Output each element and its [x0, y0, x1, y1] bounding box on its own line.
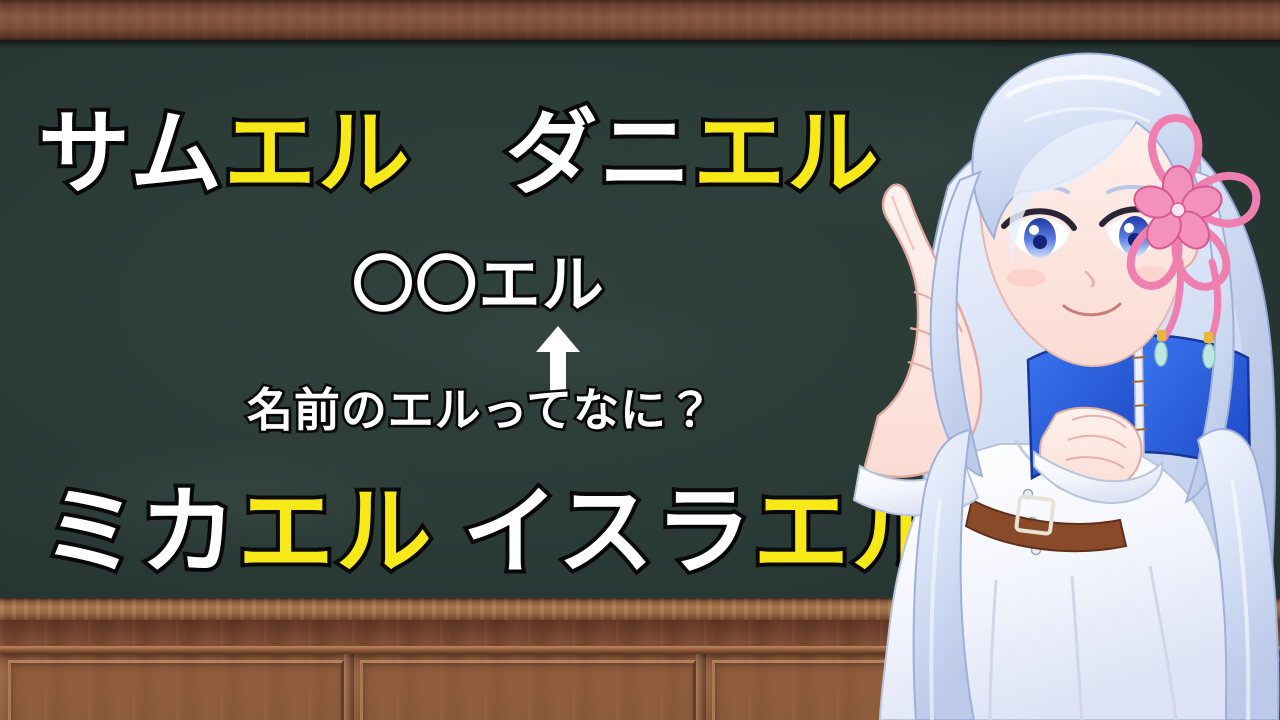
- board-line-middle: 〇〇エル: [352, 255, 605, 317]
- board-text-mika: ミカ: [42, 479, 238, 586]
- wall-stile: [1048, 654, 1058, 720]
- board-text-question: 名前のエルってなに？: [247, 384, 714, 436]
- wall-stile: [696, 654, 706, 720]
- wall-panel: [1064, 660, 1280, 720]
- board-text-eru-4: エル: [753, 479, 949, 586]
- board-line-top: サムエル ダニエル: [38, 108, 881, 200]
- board-text-isura: イスラ: [462, 479, 753, 586]
- board-text-gap-2: [434, 479, 463, 586]
- board-text-eru-2: エル: [693, 103, 881, 205]
- board-text-eru-3: エル: [238, 479, 434, 586]
- board-text-maru-maru-eru: 〇〇エル: [352, 251, 605, 320]
- board-text-eru-1: エル: [224, 103, 412, 205]
- board-line-bottom: ミカエル イスラエル: [42, 485, 949, 581]
- wall-stile: [344, 654, 354, 720]
- board-text-gap-1: [412, 103, 506, 205]
- board-text-samu: サム: [38, 103, 224, 205]
- blackboard-top-frame: [0, 0, 1280, 40]
- wall-panel: [712, 660, 1048, 720]
- wall-panel: [8, 660, 344, 720]
- blackboard-top-shadow: [0, 40, 1280, 49]
- video-frame: サムエル ダニエル 〇〇エル 名前のエルってなに？ ミカエル イスラエル: [0, 0, 1280, 720]
- wall-panel: [360, 660, 696, 720]
- board-text-dani: ダニ: [505, 103, 693, 205]
- wooden-wainscot-wall: [0, 620, 1280, 720]
- wall-chair-rail: [0, 646, 1280, 654]
- board-line-question: 名前のエルってなに？: [247, 387, 714, 433]
